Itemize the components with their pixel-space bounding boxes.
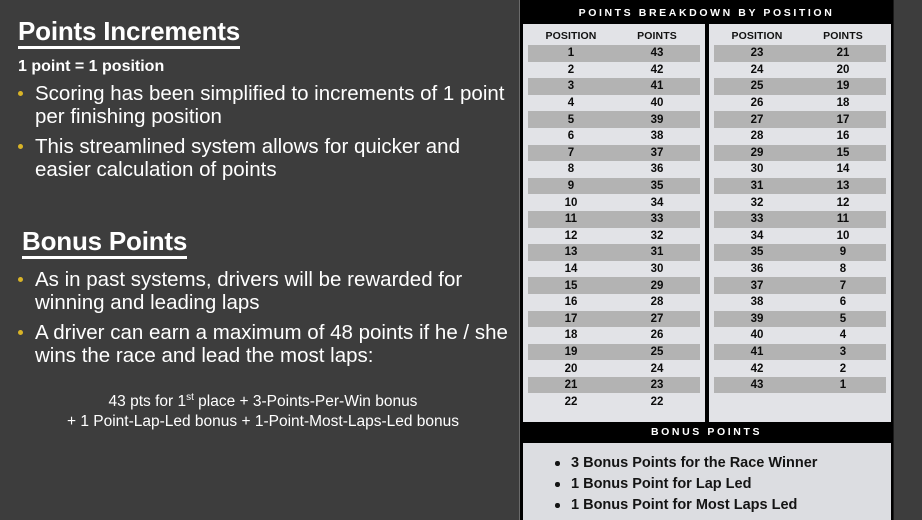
table-row: 2915: [714, 145, 886, 162]
table-row: 2717: [714, 111, 886, 128]
cell-points: 21: [800, 47, 886, 59]
table-row: 1529: [528, 277, 700, 294]
bonus-points-title-band: BONUS POINTS: [520, 424, 893, 441]
table-row: 1331: [528, 244, 700, 261]
cell-position: 10: [528, 197, 614, 209]
cell-position: 30: [714, 163, 800, 175]
table-row: 1232: [528, 228, 700, 245]
cell-position: 8: [528, 163, 614, 175]
list-item: 1 Bonus Point for Most Laps Led: [555, 495, 891, 516]
table-header-row: POSITION POINTS: [528, 27, 700, 45]
bonus-item-text: 3 Bonus Points for the Race Winner: [571, 455, 817, 471]
table-row: 143: [528, 45, 700, 62]
cell-position: 43: [714, 379, 800, 391]
table-row: 2618: [714, 95, 886, 112]
cell-position: 1: [528, 47, 614, 59]
cell-points: 9: [800, 246, 886, 258]
bonus-points-heading: Bonus Points: [22, 228, 187, 259]
table-row: 395: [714, 311, 886, 328]
bullet-text: Scoring has been simplified to increment…: [35, 82, 504, 128]
bullet-text: This streamlined system allows for quick…: [35, 135, 460, 181]
table-row: [714, 393, 886, 410]
table-row: 440: [528, 95, 700, 112]
cell-points: 43: [614, 47, 700, 59]
table-row: 2519: [714, 78, 886, 95]
cell-position: 12: [528, 230, 614, 242]
formula-prefix: 43 pts for 1: [109, 393, 187, 410]
table-row: 2123: [528, 377, 700, 394]
table-body-left: 1432423414405396387378369351034113312321…: [528, 45, 700, 410]
points-table-right-half: POSITION POINTS 232124202519261827172816…: [709, 24, 891, 422]
points-increments-bullet-list: Scoring has been simplified to increment…: [14, 82, 506, 187]
table-row: 242: [528, 62, 700, 79]
points-increments-subheading: 1 point = 1 position: [18, 58, 164, 76]
cell-position: 29: [714, 147, 800, 159]
table-row: 836: [528, 161, 700, 178]
table-row: 359: [714, 244, 886, 261]
bullet-dot-icon: [555, 461, 560, 466]
cell-position: 34: [714, 230, 800, 242]
cell-points: 17: [800, 114, 886, 126]
cell-points: 40: [614, 97, 700, 109]
list-item: This streamlined system allows for quick…: [14, 135, 506, 182]
table-row: 368: [714, 261, 886, 278]
cell-points: 31: [614, 246, 700, 258]
cell-points: 33: [614, 213, 700, 225]
column-header-position: POSITION: [714, 30, 800, 42]
cell-position: 41: [714, 346, 800, 358]
cell-position: 24: [714, 64, 800, 76]
cell-position: 25: [714, 80, 800, 92]
bullet-dot-icon: [18, 277, 23, 282]
column-header-points: POINTS: [614, 30, 700, 42]
table-row: 935: [528, 178, 700, 195]
table-row: 431: [714, 377, 886, 394]
table-row: 3410: [714, 228, 886, 245]
max-points-formula-line-1: 43 pts for 1st place + 3-Points-Per-Win …: [14, 392, 512, 412]
cell-points: 6: [800, 296, 886, 308]
slide-root: Points Increments 1 point = 1 position S…: [0, 0, 922, 520]
bullet-dot-icon: [18, 91, 23, 96]
bullet-text: A driver can earn a maximum of 48 points…: [35, 321, 508, 367]
list-item: A driver can earn a maximum of 48 points…: [14, 321, 508, 368]
bullet-dot-icon: [18, 144, 23, 149]
cell-points: 32: [614, 230, 700, 242]
table-row: 2024: [528, 360, 700, 377]
cell-points: 8: [800, 263, 886, 275]
table-row: 2222: [528, 393, 700, 410]
cell-points: 24: [614, 363, 700, 375]
cell-points: 27: [614, 313, 700, 325]
cell-points: 23: [614, 379, 700, 391]
cell-points: 35: [614, 180, 700, 192]
bullet-dot-icon: [18, 330, 23, 335]
cell-position: 39: [714, 313, 800, 325]
cell-position: 35: [714, 246, 800, 258]
cell-points: 3: [800, 346, 886, 358]
cell-points: 7: [800, 280, 886, 292]
cell-position: 6: [528, 130, 614, 142]
bullet-dot-icon: [555, 482, 560, 487]
cell-position: 21: [528, 379, 614, 391]
cell-position: 26: [714, 97, 800, 109]
table-row: 3212: [714, 194, 886, 211]
cell-position: 11: [528, 213, 614, 225]
cell-points: 2: [800, 363, 886, 375]
list-item: 3 Bonus Points for the Race Winner: [555, 453, 891, 474]
cell-points: 25: [614, 346, 700, 358]
cell-points: 29: [614, 280, 700, 292]
cell-points: 38: [614, 130, 700, 142]
cell-points: 12: [800, 197, 886, 209]
cell-position: 9: [528, 180, 614, 192]
table-row: 2816: [714, 128, 886, 145]
points-table-left-half: POSITION POINTS 143242341440539638737836…: [523, 24, 705, 422]
cell-position: 3: [528, 80, 614, 92]
cell-position: 15: [528, 280, 614, 292]
cell-points: 34: [614, 197, 700, 209]
table-body-right: 2321242025192618271728162915301431133212…: [714, 45, 886, 410]
table-row: 404: [714, 327, 886, 344]
bonus-points-bullet-list: As in past systems, drivers will be rewa…: [14, 268, 508, 373]
cell-points: 14: [800, 163, 886, 175]
table-row: 413: [714, 344, 886, 361]
points-increments-heading: Points Increments: [18, 18, 240, 49]
cell-points: 19: [800, 80, 886, 92]
table-row: 422: [714, 360, 886, 377]
table-row: 1430: [528, 261, 700, 278]
left-content-column: Points Increments 1 point = 1 position S…: [0, 0, 512, 520]
cell-points: 36: [614, 163, 700, 175]
cell-position: 14: [528, 263, 614, 275]
cell-points: 16: [800, 130, 886, 142]
formula-suffix: place + 3-Points-Per-Win bonus: [194, 393, 418, 410]
bullet-text: As in past systems, drivers will be rewa…: [35, 268, 462, 314]
column-header-points: POINTS: [800, 30, 886, 42]
panel-title-band: POINTS BREAKDOWN BY POSITION: [520, 4, 893, 22]
cell-position: 18: [528, 329, 614, 341]
list-item: As in past systems, drivers will be rewa…: [14, 268, 508, 315]
table-row: 1727: [528, 311, 700, 328]
bullet-dot-icon: [555, 503, 560, 508]
cell-points: 28: [614, 296, 700, 308]
cell-position: 27: [714, 114, 800, 126]
cell-position: 23: [714, 47, 800, 59]
points-increments-heading-wrapper: Points Increments: [18, 18, 240, 49]
cell-points: 5: [800, 313, 886, 325]
cell-position: 40: [714, 329, 800, 341]
bonus-item-text: 1 Bonus Point for Most Laps Led: [571, 497, 797, 513]
cell-points: 18: [800, 97, 886, 109]
cell-points: 10: [800, 230, 886, 242]
cell-points: 1: [800, 379, 886, 391]
table-row: 737: [528, 145, 700, 162]
table-row: 2420: [714, 62, 886, 79]
cell-position: 16: [528, 296, 614, 308]
table-row: 341: [528, 78, 700, 95]
cell-points: 39: [614, 114, 700, 126]
table-row: 638: [528, 128, 700, 145]
cell-position: 31: [714, 180, 800, 192]
cell-points: 11: [800, 213, 886, 225]
cell-position: 5: [528, 114, 614, 126]
cell-position: 42: [714, 363, 800, 375]
table-header-row: POSITION POINTS: [714, 27, 886, 45]
cell-points: 15: [800, 147, 886, 159]
cell-position: 36: [714, 263, 800, 275]
cell-position: 19: [528, 346, 614, 358]
table-row: 3113: [714, 178, 886, 195]
cell-position: 38: [714, 296, 800, 308]
points-breakdown-panel: POINTS BREAKDOWN BY POSITION POSITION PO…: [519, 0, 894, 520]
table-row: 539: [528, 111, 700, 128]
cell-position: 2: [528, 64, 614, 76]
cell-position: 28: [714, 130, 800, 142]
list-item: Scoring has been simplified to increment…: [14, 82, 506, 129]
table-row: 1925: [528, 344, 700, 361]
table-row: 386: [714, 294, 886, 311]
cell-points: 37: [614, 147, 700, 159]
bonus-points-box: 3 Bonus Points for the Race Winner1 Bonu…: [523, 443, 891, 520]
points-table: POSITION POINTS 143242341440539638737836…: [523, 24, 891, 422]
cell-position: 32: [714, 197, 800, 209]
bonus-points-heading-wrapper: Bonus Points: [22, 228, 187, 259]
ordinal-suffix: st: [186, 392, 194, 403]
table-row: 1133: [528, 211, 700, 228]
cell-points: 42: [614, 64, 700, 76]
cell-position: 13: [528, 246, 614, 258]
cell-position: 22: [528, 396, 614, 408]
cell-position: 17: [528, 313, 614, 325]
table-row: 1826: [528, 327, 700, 344]
table-row: 1034: [528, 194, 700, 211]
cell-position: 37: [714, 280, 800, 292]
list-item: 1 Bonus Point for Lap Led: [555, 474, 891, 495]
cell-points: 30: [614, 263, 700, 275]
cell-position: 33: [714, 213, 800, 225]
cell-position: 7: [528, 147, 614, 159]
cell-points: 13: [800, 180, 886, 192]
table-row: 2321: [714, 45, 886, 62]
table-row: 377: [714, 277, 886, 294]
table-row: 1628: [528, 294, 700, 311]
cell-points: 22: [614, 396, 700, 408]
bonus-item-text: 1 Bonus Point for Lap Led: [571, 476, 751, 492]
cell-points: 20: [800, 64, 886, 76]
cell-points: 4: [800, 329, 886, 341]
max-points-formula-line-2: + 1 Point-Lap-Led bonus + 1-Point-Most-L…: [14, 412, 512, 432]
cell-points: 26: [614, 329, 700, 341]
table-row: 3014: [714, 161, 886, 178]
cell-points: 41: [614, 80, 700, 92]
table-row: 3311: [714, 211, 886, 228]
column-header-position: POSITION: [528, 30, 614, 42]
cell-position: 4: [528, 97, 614, 109]
bonus-points-list: 3 Bonus Points for the Race Winner1 Bonu…: [523, 453, 891, 516]
cell-position: 20: [528, 363, 614, 375]
